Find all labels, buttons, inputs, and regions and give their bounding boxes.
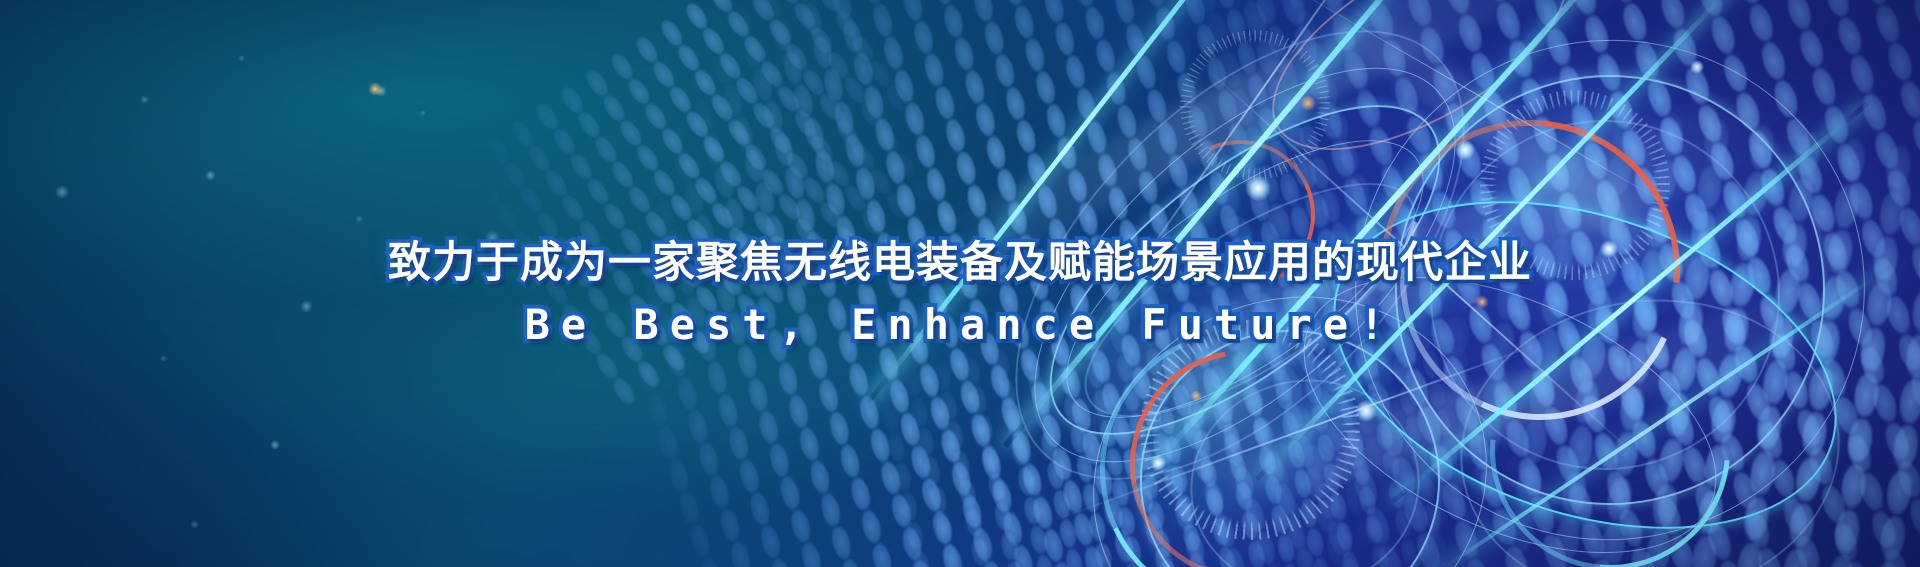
banner-headline-chinese: 致力于成为一家聚焦无线电装备及赋能场景应用的现代企业 [0,238,1920,289]
glow-dot [1150,455,1166,471]
glow-dot [1455,140,1475,160]
warm-spark [1300,95,1316,111]
banner-tagline-english: Be Best, Enhance Future! [0,300,1920,349]
glow-dot [1245,175,1271,201]
warm-spark [368,82,382,96]
banner-text-block: 致力于成为一家聚焦无线电装备及赋能场景应用的现代企业 Be Best, Enha… [0,238,1920,349]
glow-dot [1690,60,1704,74]
warm-spark [1190,390,1202,402]
glow-dot [1355,400,1377,422]
hero-banner: 致力于成为一家聚焦无线电装备及赋能场景应用的现代企业 Be Best, Enha… [0,0,1920,567]
